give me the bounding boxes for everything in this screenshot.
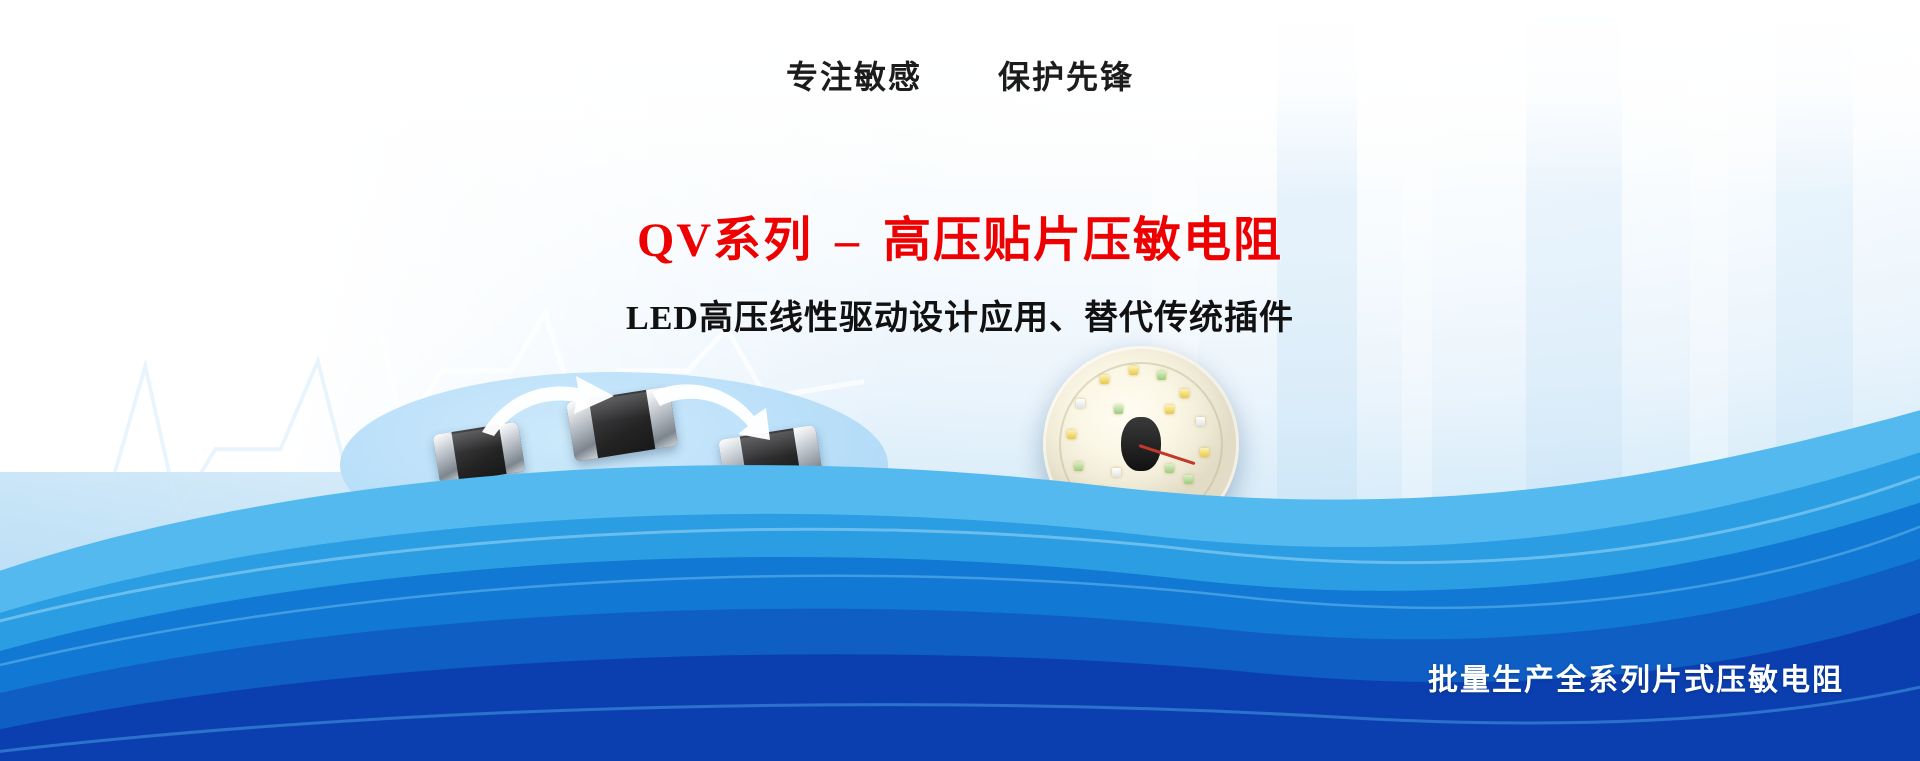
title-series: QV系列 [637, 214, 813, 267]
tagline-right: 保护先锋 [998, 59, 1134, 95]
product-banner: 专注敏感 保护先锋 QV系列 – 高压贴片压敏电阻 LED高压线性驱动设计应用、… [0, 0, 1920, 761]
title-dash: – [827, 214, 869, 267]
subtitle: LED高压线性驱动设计应用、替代传统插件 [0, 290, 1920, 339]
footnote: 批量生产全系列片式压敏电阻 [1428, 655, 1844, 699]
background-top-fade [0, 0, 1920, 198]
tagline-left: 专注敏感 [786, 59, 922, 95]
tagline: 专注敏感 保护先锋 [0, 52, 1920, 98]
page-title: QV系列 – 高压贴片压敏电阻 [0, 200, 1920, 270]
title-product: 高压贴片压敏电阻 [883, 214, 1283, 267]
